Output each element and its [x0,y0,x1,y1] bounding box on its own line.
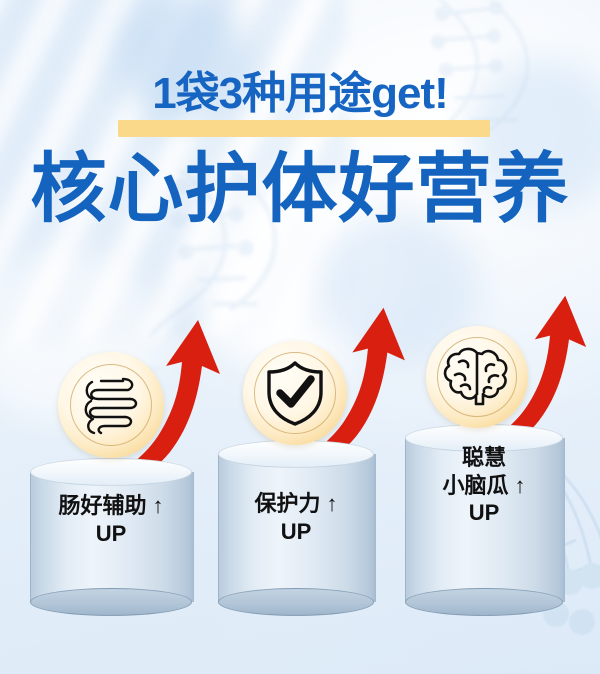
medallion-gut [58,352,164,458]
intestine-icon [75,369,147,441]
pedestal-top [30,458,192,486]
medallion-brain [426,326,528,428]
pedestal-base [218,588,374,616]
pedestal-label-gut: 肠好辅助 ↑ UP [30,492,192,547]
main-headline: 核心护体好营养 [0,152,600,228]
pedestal-label-brain: 聪慧 小脑瓜 ↑ UP [405,444,563,527]
shield-check-icon [263,359,327,427]
medallion-immunity [243,341,347,445]
pedestal-base [405,588,563,616]
pedestal-label-immunity: 保护力 ↑ UP [218,490,374,545]
highlight-bar [118,120,490,137]
brain-icon [442,344,512,410]
promo-poster: 1袋3种用途get! 核心护体好营养 肠好辅助 ↑ UP [0,0,600,674]
pedestal-base [30,588,192,616]
sub-headline: 1袋3种用途get! [0,72,600,116]
